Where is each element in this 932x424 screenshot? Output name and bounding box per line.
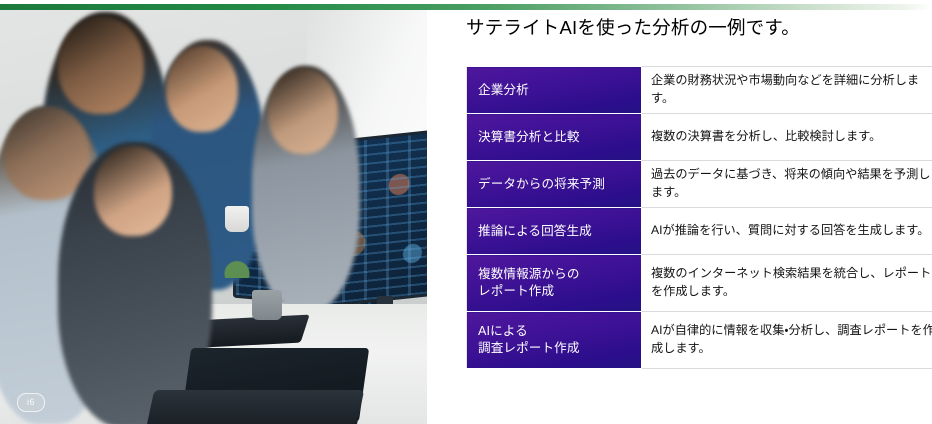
feature-category: 複数情報源からの レポート作成 <box>467 255 642 312</box>
feature-category: AIによる 調査レポート作成 <box>467 312 642 369</box>
photo-mug-gray <box>252 290 282 320</box>
table-row: 企業分析 企業の財務状況や市場動向などを詳細に分析します。 <box>467 67 932 114</box>
photo-person-woman-plaid-head <box>94 146 172 236</box>
photo-person-bearded-man-head <box>58 16 144 114</box>
feature-category: 決算書分析と比較 <box>467 114 642 161</box>
table-row: 推論による回答生成 AIが推論を行い、質問に対する回答を生成します。 <box>467 208 932 255</box>
table-row: AIによる 調査レポート作成 AIが自律的に情報を収集・分析し、調査レポートを作… <box>467 312 932 369</box>
hero-photo: i6 <box>0 10 427 424</box>
table-row: 決算書分析と比較 複数の決算書を分析し、比較検討します。 <box>467 114 932 161</box>
feature-description: AIが推論を行い、質問に対する回答を生成します。 <box>642 208 932 255</box>
feature-description: 複数の決算書を分析し、比較検討します。 <box>642 114 932 161</box>
feature-description: 過去のデータに基づき、将来の傾向や結果を予測します。 <box>642 161 932 208</box>
feature-description: AIが自律的に情報を収集・分析し、調査レポートを作成します。 <box>642 312 932 369</box>
photo-mug-white <box>225 206 249 232</box>
feature-category: データからの将来予測 <box>467 161 642 208</box>
feature-description: 複数のインターネット検索結果を統合し、レポートを作成します。 <box>642 255 932 312</box>
feature-category-line2: 調査レポート作成 <box>478 341 580 355</box>
content-panel: サテライトAIを使った分析の一例です。 企業分析 企業の財務状況や市場動向などを… <box>462 0 932 424</box>
feature-description: 企業の財務状況や市場動向などを詳細に分析します。 <box>642 67 932 114</box>
feature-category-line2: レポート作成 <box>478 284 554 298</box>
feature-category-line1: 複数情報源からの <box>478 267 580 281</box>
slide-canvas: i6 サテライトAIを使った分析の一例です。 企業分析 企業の財務状況や市場動向… <box>0 0 932 424</box>
photo-watermark-badge: i6 <box>17 393 45 412</box>
feature-category: 企業分析 <box>467 67 642 114</box>
table-row: データからの将来予測 過去のデータに基づき、将来の傾向や結果を予測します。 <box>467 161 932 208</box>
photo-plant <box>224 256 250 278</box>
feature-category: 推論による回答生成 <box>467 208 642 255</box>
photo-laptop-base <box>146 390 365 424</box>
feature-table: 企業分析 企業の財務状況や市場動向などを詳細に分析します。 決算書分析と比較 複… <box>466 66 932 369</box>
photo-person-woman-glasses-back-head <box>268 68 338 154</box>
photo-scene: i6 <box>0 10 427 424</box>
page-title: サテライトAIを使った分析の一例です。 <box>466 14 800 40</box>
feature-category-line1: AIによる <box>478 324 528 338</box>
photo-person-blue-shirt-man-head <box>166 46 238 132</box>
table-row: 複数情報源からの レポート作成 複数のインターネット検索結果を統合し、レポートを… <box>467 255 932 312</box>
